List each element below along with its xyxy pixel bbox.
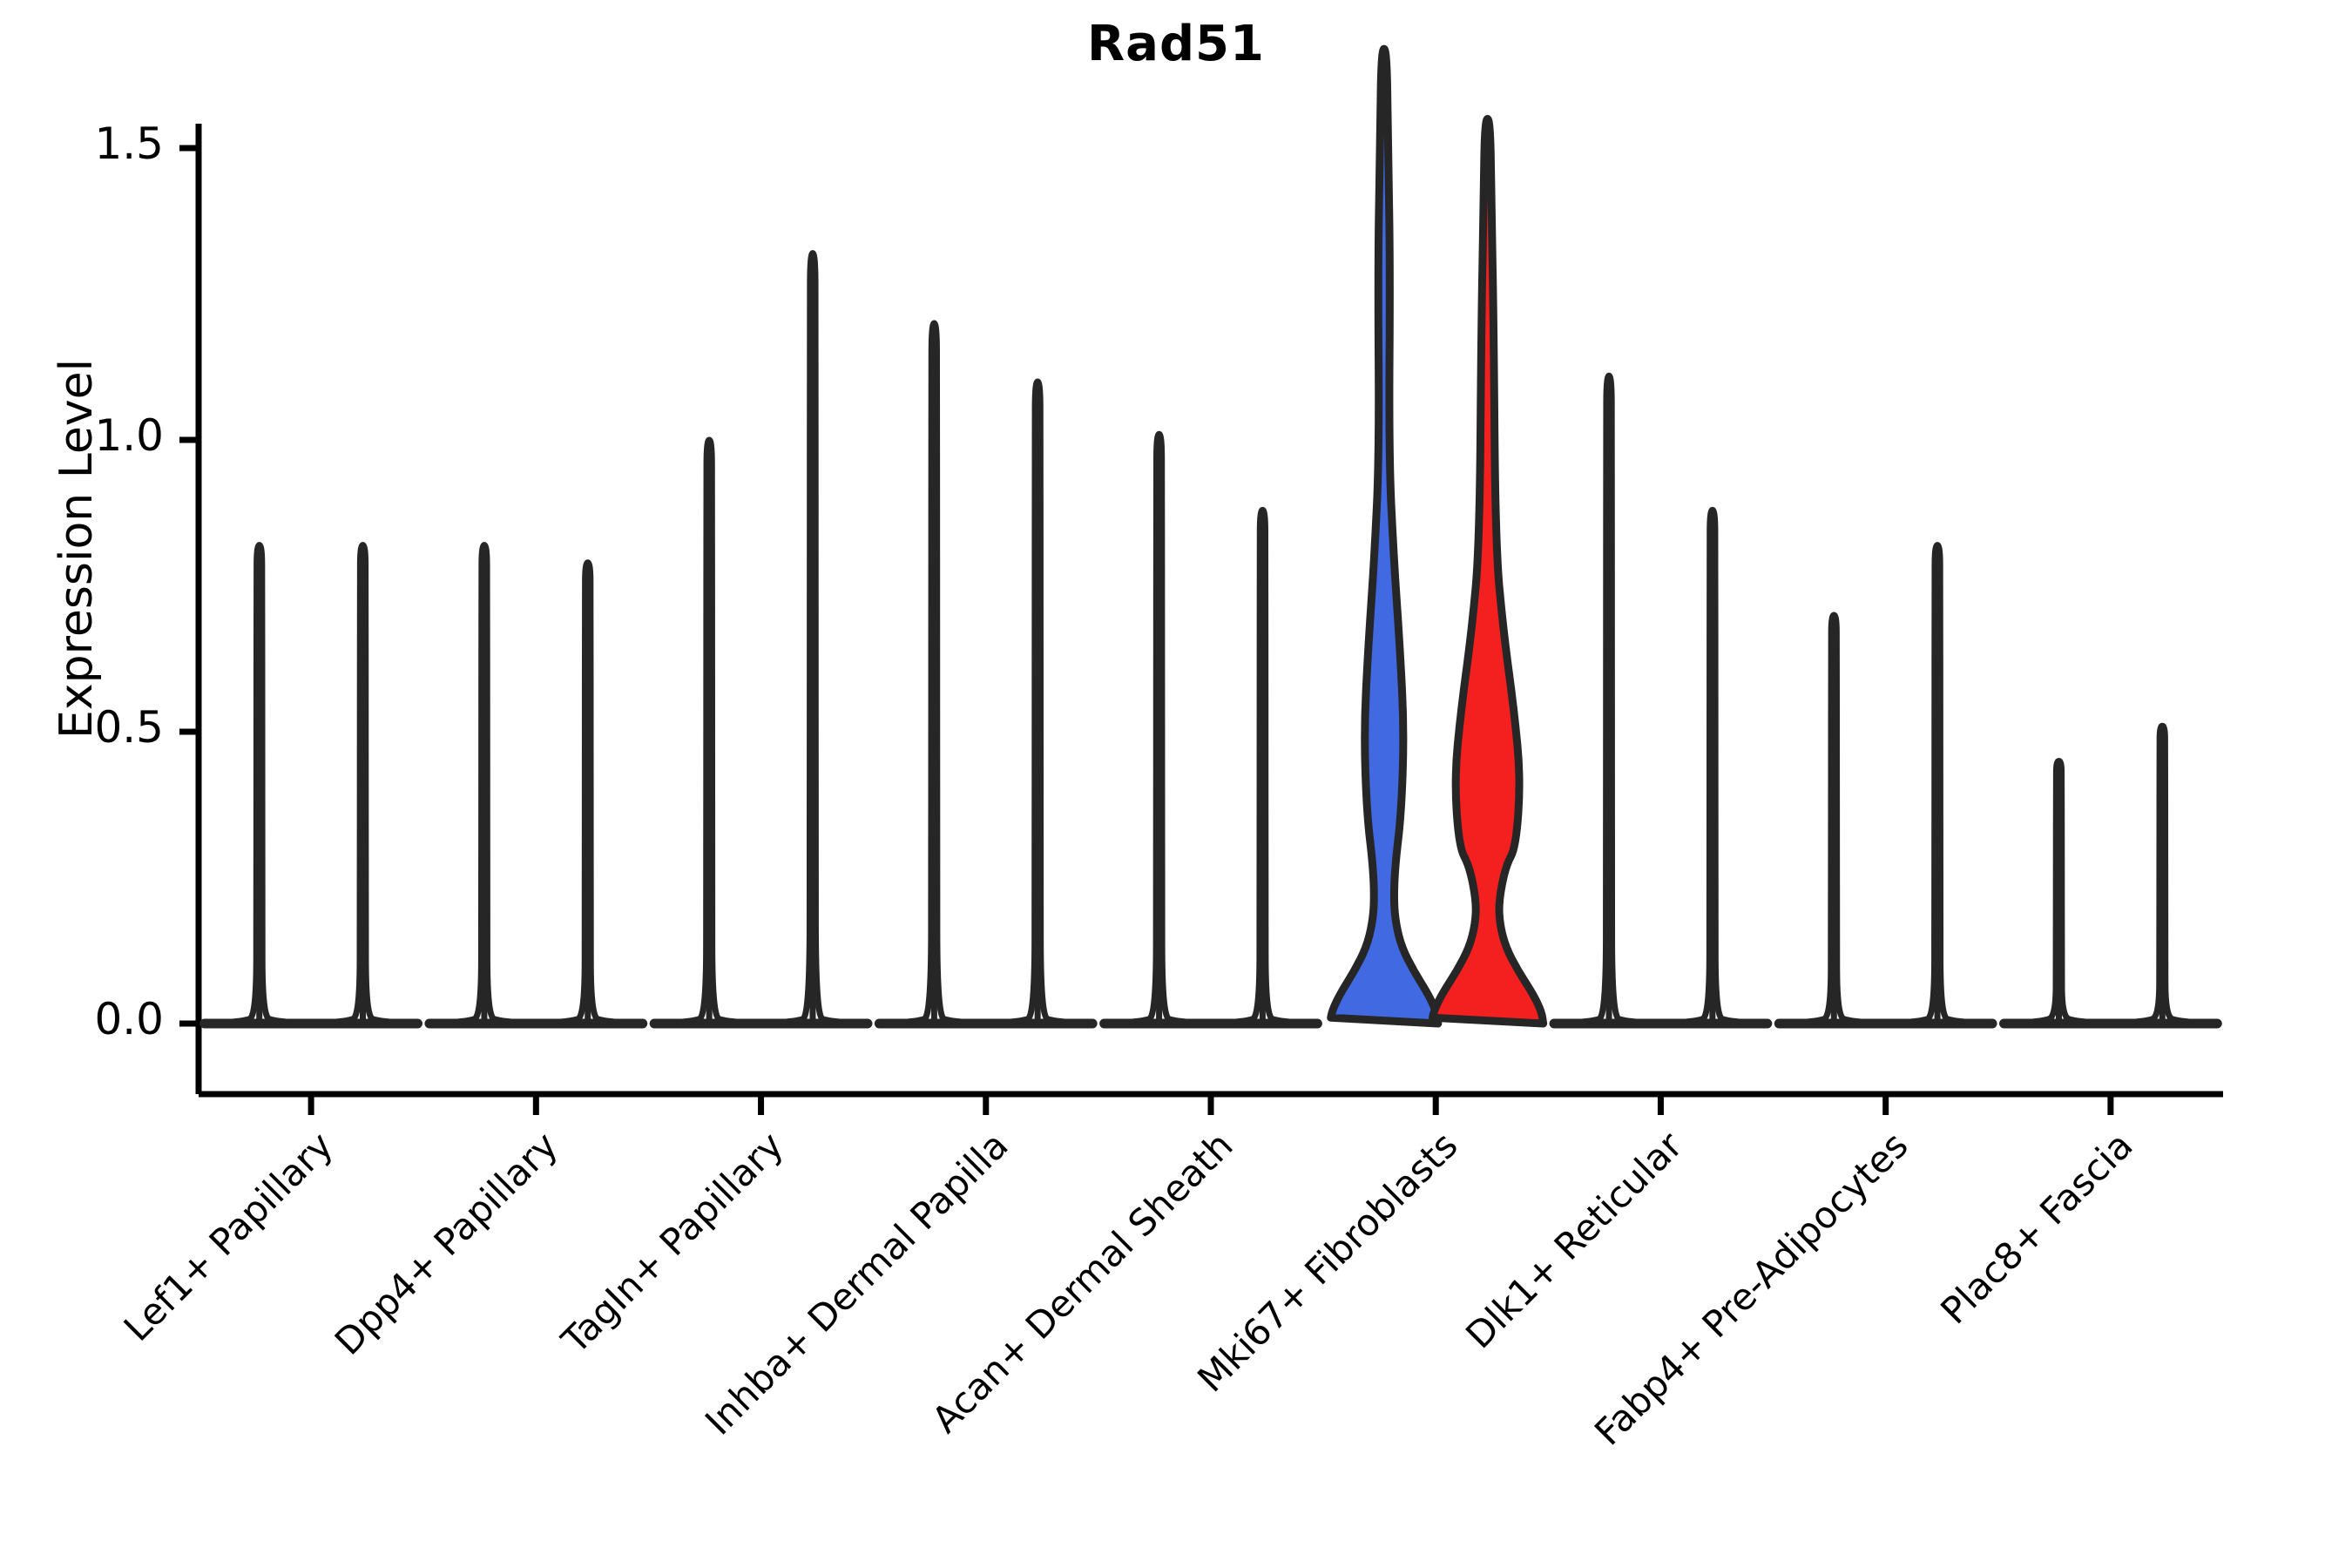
violin-body-spike [552, 563, 643, 1024]
violin-body-spike [224, 545, 314, 1024]
violin-7-1[interactable] [1882, 545, 1992, 1024]
violin-2-1[interactable] [758, 253, 868, 1024]
y-tick-label: 1.0 [0, 410, 164, 461]
violin-body-spike [1573, 375, 1664, 1024]
violin-body-spike [2024, 761, 2114, 1024]
violin-body-spike [1798, 615, 1889, 1024]
violin-7-0[interactable] [1779, 615, 1889, 1024]
violin-4-1[interactable] [1207, 510, 1317, 1024]
violin-body-spike [1677, 510, 1767, 1024]
violin-body-spike [1002, 382, 1092, 1024]
violin-body-spike [673, 440, 764, 1024]
violin-body-spike [1227, 510, 1317, 1024]
axis-spines [199, 124, 2223, 1094]
violin-1-1[interactable] [533, 563, 643, 1024]
y-tick-label: 0.0 [0, 994, 164, 1044]
violin-plot-figure: Rad51 Expression Level 0.00.51.01.5 Lef1… [0, 0, 2352, 1568]
violin-body-spike [328, 545, 418, 1024]
violin-body-filled [1433, 119, 1544, 1024]
violin-2-0[interactable] [654, 440, 764, 1024]
violin-8-1[interactable] [2107, 726, 2217, 1024]
violin-body-spike [2126, 726, 2217, 1024]
violin-5-1[interactable] [1433, 119, 1544, 1024]
violin-6-0[interactable] [1554, 375, 1664, 1024]
violin-1-0[interactable] [429, 545, 539, 1024]
violin-3-0[interactable] [879, 323, 989, 1024]
y-tick-label: 0.5 [0, 702, 164, 753]
y-tick-label: 1.5 [0, 118, 164, 169]
violin-body-spike [1902, 545, 1992, 1024]
violin-3-1[interactable] [983, 382, 1092, 1024]
violin-layer [205, 49, 2218, 1024]
violin-8-0[interactable] [2004, 761, 2113, 1024]
violin-body-spike [1124, 434, 1214, 1024]
violin-body-spike [449, 545, 539, 1024]
violin-0-0[interactable] [205, 545, 314, 1024]
x-axis-ticks [311, 1094, 2111, 1115]
violin-4-0[interactable] [1105, 434, 1214, 1024]
violin-body-filled [1331, 49, 1438, 1024]
violin-0-1[interactable] [308, 545, 418, 1024]
violin-body-spike [898, 323, 989, 1024]
violin-body-spike [777, 253, 868, 1024]
violin-6-1[interactable] [1658, 510, 1767, 1024]
violin-5-0[interactable] [1331, 49, 1438, 1024]
